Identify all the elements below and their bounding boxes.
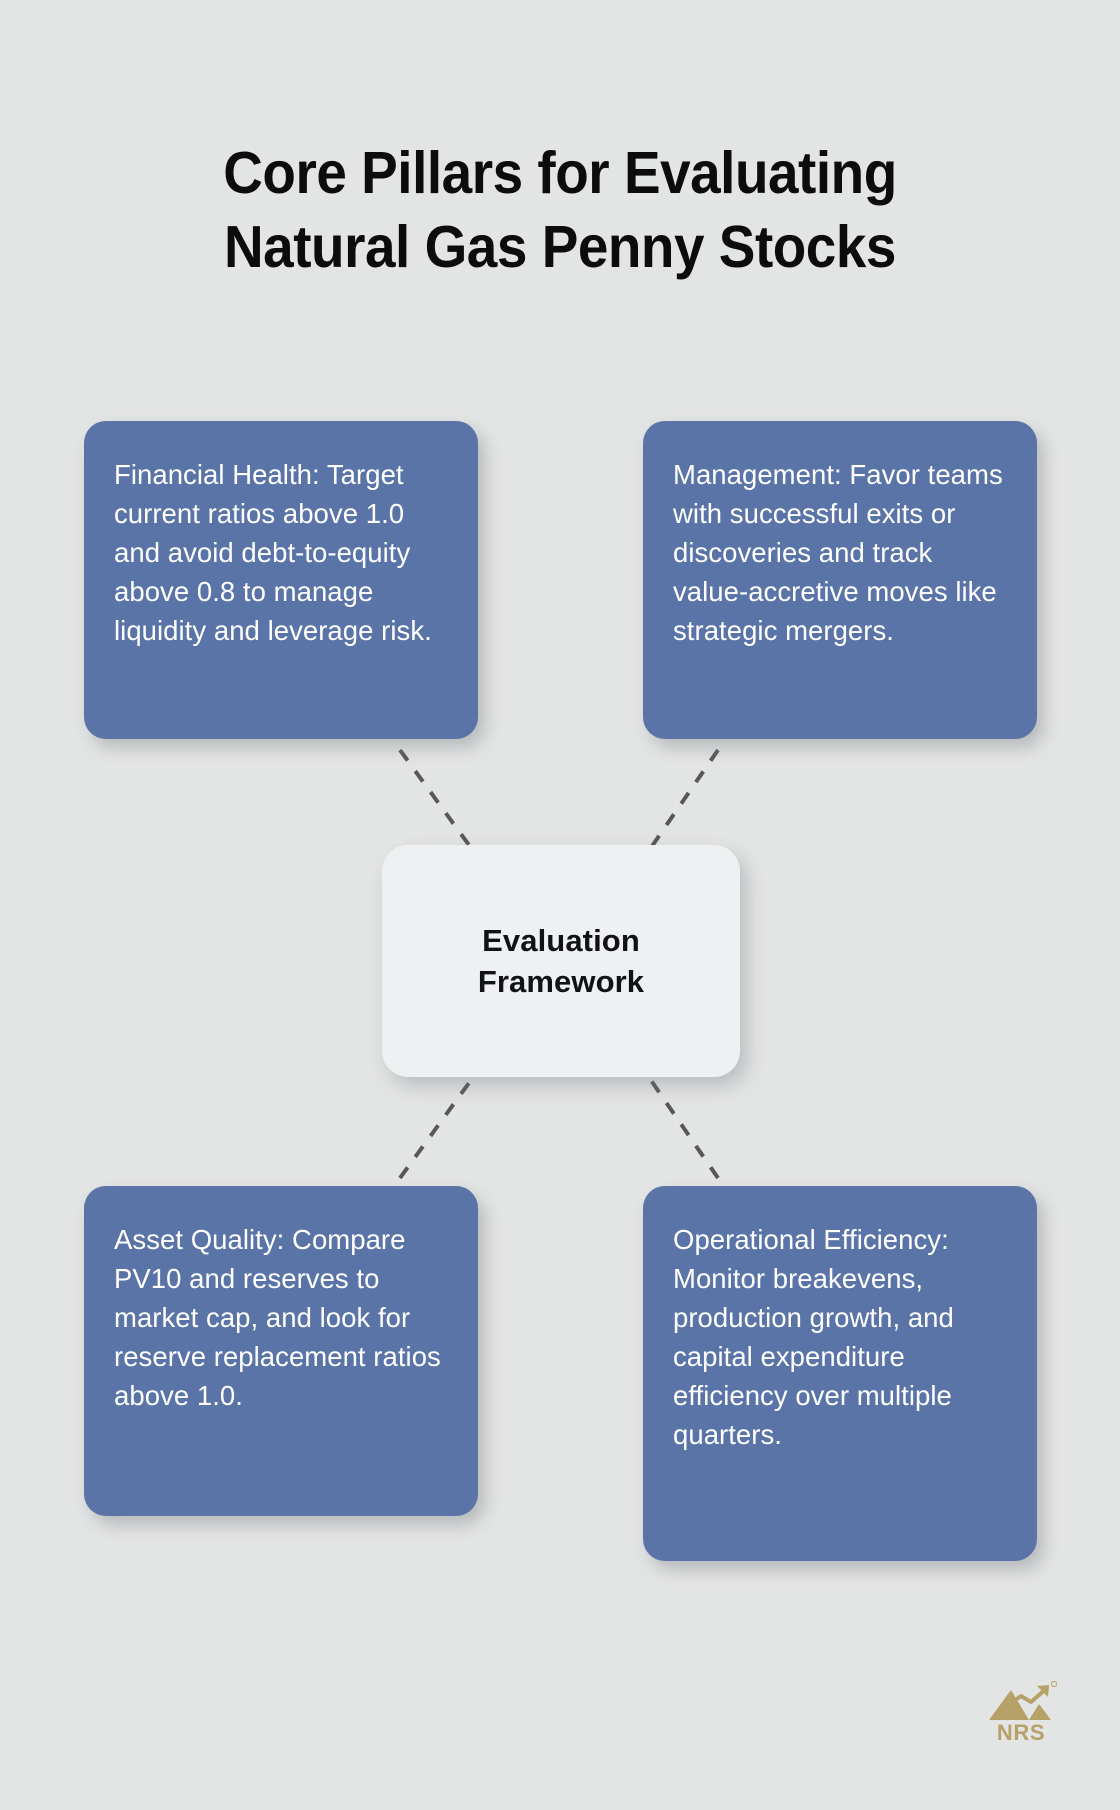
page-title-line-2: Natural Gas Penny Stocks xyxy=(39,210,1081,284)
infographic-canvas: Core Pillars for Evaluating Natural Gas … xyxy=(0,0,1120,1810)
nrs-logo-text: NRS xyxy=(985,1722,1057,1744)
card-operational-efficiency: Operational Efficiency: Monitor breakeve… xyxy=(643,1186,1037,1561)
card-financial-health: Financial Health: Target current ratios … xyxy=(84,421,478,739)
center-node-evaluation-framework: Evaluation Framework xyxy=(382,845,740,1077)
card-asset-quality-text: Asset Quality: Compare PV10 and reserves… xyxy=(114,1220,446,1415)
connector-management-to-center xyxy=(648,750,718,852)
card-asset-quality: Asset Quality: Compare PV10 and reserves… xyxy=(84,1186,478,1516)
connector-financial-health-to-center xyxy=(400,750,474,852)
card-management: Management: Favor teams with successful … xyxy=(643,421,1037,739)
connector-operational-efficiency-to-center xyxy=(648,1076,718,1178)
center-node-label-line-2: Framework xyxy=(478,964,644,999)
page-title-line-1: Core Pillars for Evaluating xyxy=(39,136,1081,210)
card-operational-efficiency-text: Operational Efficiency: Monitor breakeve… xyxy=(673,1220,1005,1454)
page-title: Core Pillars for Evaluating Natural Gas … xyxy=(39,136,1081,285)
mountain-chart-arrow-icon xyxy=(985,1680,1057,1724)
connector-asset-quality-to-center xyxy=(400,1076,474,1178)
center-node-label: Evaluation Framework xyxy=(442,920,680,1002)
card-financial-health-text: Financial Health: Target current ratios … xyxy=(114,455,446,650)
card-management-text: Management: Favor teams with successful … xyxy=(673,455,1005,650)
center-node-label-line-1: Evaluation xyxy=(482,923,640,958)
nrs-logo: NRS xyxy=(985,1680,1057,1754)
